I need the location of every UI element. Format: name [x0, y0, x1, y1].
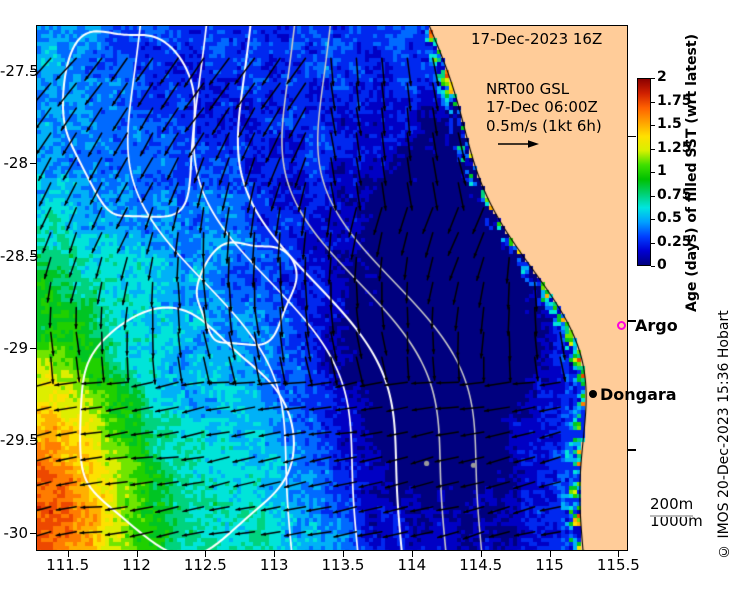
colorbar-tick [651, 125, 655, 126]
dongara-label: Dongara [600, 385, 677, 405]
colorbar-title: Age (days) of filled SST (wrt latest) [681, 28, 703, 318]
colorbar-tick [651, 78, 655, 79]
colorbar-tick-label: 2 [657, 69, 667, 85]
bathymetry-legend: 200m 1000m [650, 496, 703, 531]
colorbar-tick [651, 102, 655, 103]
colorbar-tick-label: 0 [657, 257, 667, 273]
colorbar-tick-label: 1.25 [657, 140, 692, 156]
colorbar-tick [651, 172, 655, 173]
y-axis-tick-label: -29 [0, 339, 28, 357]
current-vector-legend: NRT00 GSL 17-Dec 06:00Z 0.5m/s (1kt 6h) [486, 80, 602, 135]
colorbar-tick-label: 0.75 [657, 187, 692, 203]
map-timestamp: 17-Dec-2023 16Z [471, 30, 602, 48]
copyright-notice: © IMOS 20-Dec-2023 15:36 Hobart [716, 285, 736, 585]
colorbar-tick-label: 1.5 [657, 116, 682, 132]
vector-scale-label: 0.5m/s (1kt 6h) [486, 117, 602, 135]
y-axis-tick [30, 533, 36, 534]
colorbar-tick [651, 266, 655, 267]
colorbar [637, 78, 651, 266]
argo-label: Argo [635, 316, 678, 336]
y-axis-tick-label: -29.5 [0, 431, 28, 449]
right-axis-tick [628, 320, 636, 322]
right-axis-tick [628, 136, 636, 138]
colorbar-tick [651, 219, 655, 220]
colorbar-tick [651, 243, 655, 244]
right-arrow-icon [497, 138, 541, 150]
colorbar-tick-label: 1.75 [657, 93, 692, 109]
colorbar-tick [651, 149, 655, 150]
y-axis-tick-label: -28.5 [0, 247, 28, 265]
x-axis-tick-label: 115.5 [578, 556, 658, 574]
y-axis-tick-label: -30 [0, 524, 28, 542]
y-axis-tick [30, 163, 36, 164]
bathymetry-1000m-line [650, 534, 702, 536]
colorbar-tick-label: 1 [657, 163, 667, 179]
right-axis-tick [628, 449, 636, 451]
bathymetry-200m-label: 200m [650, 496, 703, 513]
vector-valid-time-label: 17-Dec 06:00Z [486, 98, 602, 116]
dongara-marker-icon [589, 390, 597, 398]
colorbar-tick-label: 0.25 [657, 234, 692, 250]
y-axis-tick [30, 348, 36, 349]
argo-marker-icon [617, 321, 626, 330]
colorbar-tick-label: 0.5 [657, 210, 682, 226]
y-axis-tick-label: -27.5 [0, 62, 28, 80]
y-axis-tick-label: -28 [0, 154, 28, 172]
colorbar-tick [651, 196, 655, 197]
bathymetry-200m-line [650, 515, 693, 517]
vector-product-label: NRT00 GSL [486, 80, 602, 98]
